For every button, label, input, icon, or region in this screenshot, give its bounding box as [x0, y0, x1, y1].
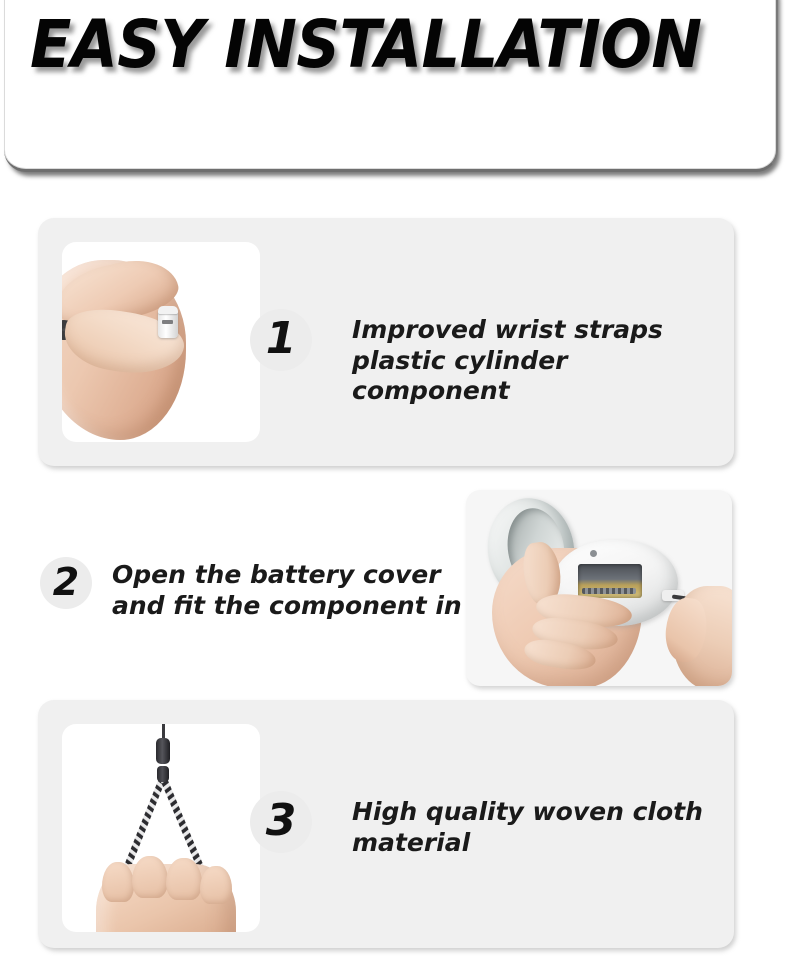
device-sensor-dot	[590, 550, 597, 557]
hand-pinching-cylinder-illustration	[62, 242, 260, 442]
knuckle-shape-4	[200, 866, 232, 904]
step-3-photo	[62, 724, 260, 932]
step-2-number: 2	[53, 563, 79, 603]
step-3-description: High quality woven cloth material	[352, 797, 732, 858]
step-2-number-badge: 2	[40, 557, 92, 609]
step-1-description: Improved wrist straps plastic cylinder c…	[352, 315, 732, 407]
plastic-cylinder-shape	[158, 310, 178, 338]
cylinder-slot-shape	[162, 320, 173, 324]
step-1-number: 1	[266, 317, 297, 363]
cylinder-cap-shape	[158, 306, 178, 314]
step-2-photo	[466, 490, 732, 686]
step-1-number-badge: 1	[250, 309, 312, 371]
step-3-number-badge: 3	[250, 791, 312, 853]
knuckle-shape-2	[132, 856, 168, 898]
cord-lock-bead-shape	[157, 766, 169, 782]
battery-contacts-shape	[582, 588, 636, 594]
page-title: EASY INSTALLATION	[30, 12, 785, 78]
step-1-photo	[62, 242, 260, 442]
step-3-number: 3	[266, 799, 297, 845]
woven-strap-illustration	[62, 724, 260, 932]
step-2-description: Open the battery cover and fit the compo…	[112, 560, 482, 621]
cord-lock-toggle-shape	[156, 738, 170, 764]
header-banner: EASY INSTALLATION	[4, 0, 778, 172]
battery-cover-illustration	[466, 490, 732, 686]
knuckle-shape-3	[166, 858, 202, 900]
knuckle-shape-1	[102, 862, 134, 902]
